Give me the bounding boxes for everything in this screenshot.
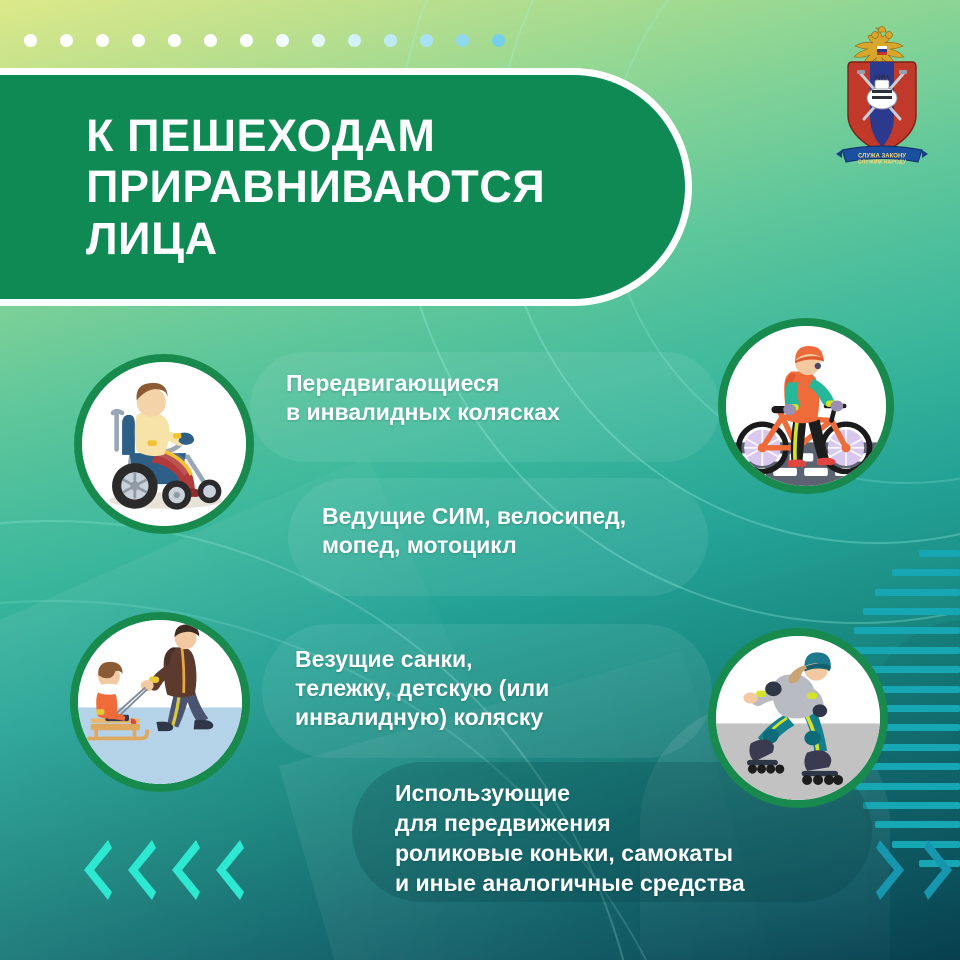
- decorative-dot: [240, 34, 253, 47]
- cyclist-walking-bicycle-icon: [726, 326, 886, 486]
- man-pulling-child-sled-icon: [78, 620, 242, 784]
- page-title-line: К ПЕШЕХОДАМ: [86, 110, 435, 161]
- illustration-circle-wheelchair: [74, 354, 254, 534]
- decorative-dot-row: [24, 34, 505, 47]
- decorative-stripe: [854, 783, 960, 790]
- decorative-dot: [456, 34, 469, 47]
- header-banner: К ПЕШЕХОДАМПРИРАВНИВАЮТСЯЛИЦА: [0, 68, 692, 306]
- decorative-dot: [132, 34, 145, 47]
- item-text-wheelchair: Передвигающиеся в инвалидных колясках: [286, 369, 560, 427]
- page-title-line: ПРИРАВНИВАЮТСЯ: [86, 161, 545, 212]
- decorative-dot: [24, 34, 37, 47]
- decorative-stripe: [892, 569, 960, 576]
- decorative-stripe: [848, 647, 960, 654]
- decorative-dot: [168, 34, 181, 47]
- infographic-poster: К ПЕШЕХОДАМПРИРАВНИВАЮТСЯЛИЦА: [0, 0, 960, 960]
- item-text-roller-skates: Использующие для передвижения роликовые …: [395, 779, 745, 899]
- decorative-stripe: [863, 802, 960, 809]
- chevron-right-group: [872, 838, 960, 902]
- svg-text:СЛУЖИМ НАРОДУ: СЛУЖИМ НАРОДУ: [858, 160, 907, 166]
- decorative-dot: [96, 34, 109, 47]
- illustration-circle-sled: [70, 612, 250, 792]
- mvd-emblem: СЛУЖА ЗАКОНУ СЛУЖИМ НАРОДУ: [828, 22, 936, 172]
- rollerblading-person-icon: [716, 636, 880, 800]
- decorative-dot: [60, 34, 73, 47]
- page-title: К ПЕШЕХОДАМПРИРАВНИВАЮТСЯЛИЦА: [0, 110, 585, 264]
- decorative-dot: [384, 34, 397, 47]
- decorative-dot: [492, 34, 505, 47]
- decorative-stripe: [875, 589, 960, 596]
- decorative-stripe: [854, 627, 960, 634]
- decorative-dot: [204, 34, 217, 47]
- decorative-dot: [348, 34, 361, 47]
- decorative-dot: [276, 34, 289, 47]
- wheelchair-user-icon: [82, 362, 246, 526]
- decorative-dot: [312, 34, 325, 47]
- item-text-leading-vehicle: Ведущие СИМ, велосипед, мопед, мотоцикл: [322, 502, 626, 560]
- chevron-left-group: [82, 838, 262, 902]
- decorative-stripe: [919, 550, 960, 557]
- decorative-dot: [420, 34, 433, 47]
- decorative-stripe: [863, 608, 960, 615]
- item-text-pulling-sled: Везущие санки, тележку, детскую (или инв…: [295, 645, 549, 732]
- decorative-stripe: [875, 821, 960, 828]
- illustration-circle-cyclist: [718, 318, 894, 494]
- page-title-line: ЛИЦА: [86, 213, 218, 264]
